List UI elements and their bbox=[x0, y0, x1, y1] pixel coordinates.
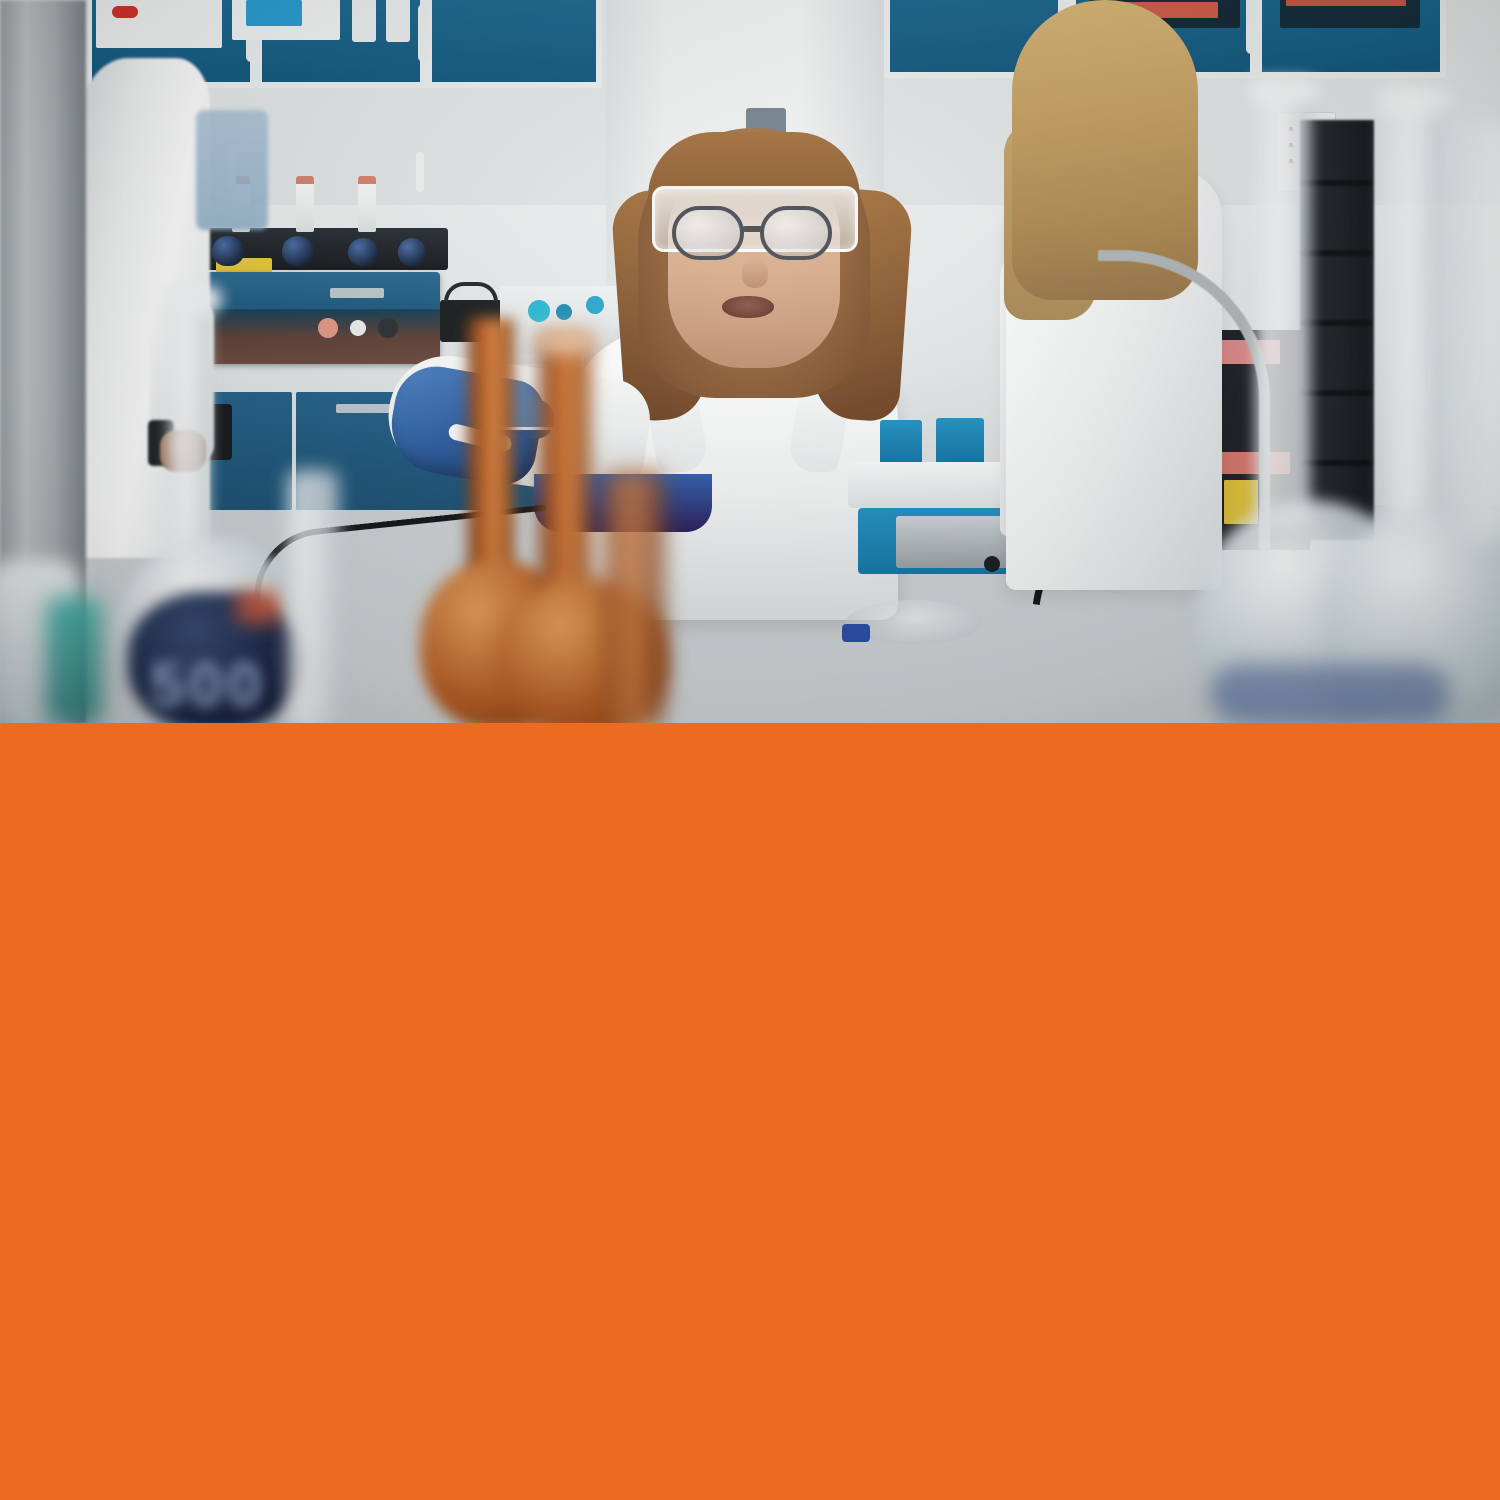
instrument-indicator bbox=[556, 304, 572, 320]
vial-cap bbox=[358, 176, 376, 184]
instrument-knob bbox=[318, 318, 338, 338]
flask-volume-label: 500 bbox=[150, 650, 265, 721]
sample-vial bbox=[296, 176, 314, 232]
foreground-bottle-cap bbox=[46, 596, 102, 723]
analytical-instrument bbox=[200, 272, 440, 364]
binder-stack bbox=[1286, 0, 1406, 6]
wall-panel bbox=[196, 110, 268, 230]
shelf-box-label bbox=[246, 0, 302, 26]
vial-stem bbox=[416, 152, 424, 192]
flask-rim bbox=[1378, 88, 1452, 114]
lab-photo: 500 bbox=[0, 0, 1500, 723]
vial-cap bbox=[296, 176, 314, 184]
shelf-box-label bbox=[112, 6, 138, 18]
instrument-indicator bbox=[586, 296, 604, 314]
instrument-cable bbox=[444, 282, 498, 302]
flask-rim bbox=[534, 330, 596, 354]
instrument-indicator bbox=[528, 300, 550, 322]
flask-rim bbox=[1248, 78, 1318, 104]
flask-shadow bbox=[1210, 664, 1450, 723]
shelf-bottle bbox=[386, 0, 410, 42]
instrument-knob bbox=[350, 320, 366, 336]
foreground-glass-cylinder bbox=[1440, 120, 1500, 540]
shelf-bottle bbox=[352, 0, 376, 42]
sample-vial bbox=[358, 176, 376, 232]
flask-label-sticker bbox=[236, 590, 282, 624]
cabinet-door bbox=[426, 0, 602, 88]
amber-glass-cylinder bbox=[604, 470, 664, 723]
volumetric-flask-neck bbox=[1386, 96, 1444, 526]
headline: THERE IS A FINE LINE BETWEEN PASSION AND… bbox=[118, 1487, 1379, 1500]
cabinet-handle bbox=[418, 4, 428, 62]
sample-vial-bulb bbox=[212, 236, 244, 266]
instrument-knob bbox=[378, 318, 398, 338]
orange-panel: THERE IS A FINE LINE BETWEEN PASSION AND… bbox=[0, 723, 1500, 1500]
bench-item bbox=[842, 624, 870, 642]
sample-vial-bulb bbox=[282, 236, 314, 266]
poster-root: 500 THERE IS A FINE LINE BETWEEN PASSION… bbox=[0, 0, 1500, 1500]
instrument-display bbox=[330, 288, 384, 298]
cabinet-handle bbox=[1246, 0, 1256, 54]
instrument-part bbox=[880, 420, 922, 466]
dark-cabinet-column bbox=[1300, 120, 1374, 540]
instrument-part bbox=[936, 418, 984, 466]
volumetric-flask-neck bbox=[1256, 86, 1310, 526]
sample-vial-bulb bbox=[398, 238, 426, 266]
instrument-indicator bbox=[984, 556, 1000, 572]
eyeglass-bridge bbox=[742, 226, 764, 232]
flask-rim bbox=[160, 286, 222, 312]
foreground-glass-cylinder bbox=[288, 470, 338, 723]
eyeglass-lens bbox=[672, 206, 744, 260]
sample-vial-bulb bbox=[348, 238, 378, 266]
